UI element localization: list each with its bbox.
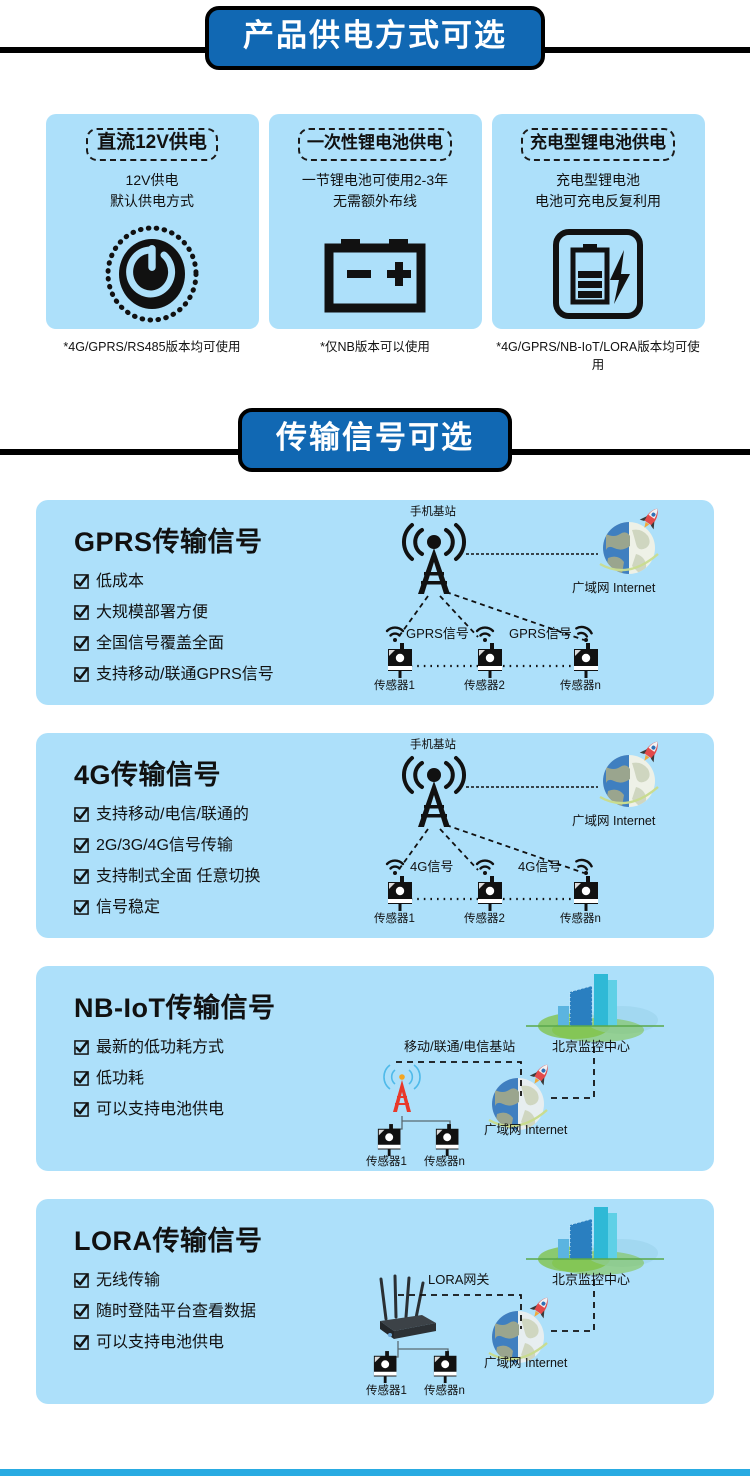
sensor-device-icon xyxy=(572,643,606,684)
signal-diagram-4g: 手机基站 xyxy=(366,733,714,938)
diagram-connectors xyxy=(366,966,696,1171)
rechargeable-battery-icon xyxy=(552,219,644,329)
power-card-description: 一节锂电池可使用2-3年 无需额外布线 xyxy=(302,170,448,212)
list-item-label: 支持移动/联通GPRS信号 xyxy=(96,666,274,684)
list-item-label: 可以支持电池供电 xyxy=(96,1101,224,1119)
power-card-desc-line2: 无需额外布线 xyxy=(302,191,448,212)
power-card-note: *4G/GPRS/RS485版本均可使用 xyxy=(47,338,257,356)
signal-section-banner: 传输信号可选 xyxy=(0,402,750,492)
list-item-label: 最新的低功耗方式 xyxy=(96,1039,224,1057)
sensor-device-icon xyxy=(572,876,606,917)
list-item: 2G/3G/4G信号传输 xyxy=(74,837,366,858)
list-item-label: 可以支持电池供电 xyxy=(96,1334,224,1352)
signal-block-4g: 4G传输信号 支持移动/电信/联通的 2G/3G/4G信号传输 支持制式全面 任… xyxy=(36,733,714,938)
check-icon xyxy=(74,1040,89,1060)
sensor-label: 传感器1 xyxy=(366,1385,407,1398)
sensor-label: 传感器2 xyxy=(464,680,505,693)
list-item: 全国信号覆盖全面 xyxy=(74,635,366,656)
signal-feature-list: 支持移动/电信/联通的 2G/3G/4G信号传输 支持制式全面 任意切换 信号稳… xyxy=(74,806,366,920)
list-item-label: 2G/3G/4G信号传输 xyxy=(96,837,233,855)
signal-type-label: 4G信号 xyxy=(410,860,453,874)
list-item: 大规模部署方便 xyxy=(74,604,366,625)
list-item-label: 支持移动/电信/联通的 xyxy=(96,806,249,824)
power-card-body: 直流12V供电 12V供电 默认供电方式 xyxy=(46,114,259,329)
signal-block-text: GPRS传输信号 低成本 大规模部署方便 全国信号覆盖全面 支持移动/联通GPR… xyxy=(36,500,366,715)
power-card-body: 一次性锂电池供电 一节锂电池可使用2-3年 无需额外布线 xyxy=(269,114,482,329)
sensor-label: 传感器1 xyxy=(374,913,415,926)
signal-block-text: NB-IoT传输信号 最新的低功耗方式 低功耗 可以支持电池供电 xyxy=(36,966,366,1150)
signal-diagram-lora: 北京监控中心 LORA网关 xyxy=(366,1199,714,1404)
signal-type-label: GPRS信号 xyxy=(406,627,469,641)
banner-box-power: 产品供电方式可选 xyxy=(205,6,545,70)
sensor-device-icon xyxy=(476,643,510,684)
check-icon xyxy=(74,838,89,858)
list-item: 最新的低功耗方式 xyxy=(74,1039,366,1060)
list-item-label: 大规模部署方便 xyxy=(96,604,208,622)
signal-type-label: 4G信号 xyxy=(518,860,561,874)
list-item-label: 低功耗 xyxy=(96,1070,144,1088)
sensor-label: 传感器1 xyxy=(374,680,415,693)
power-section-banner: 产品供电方式可选 xyxy=(0,0,750,90)
banner-title-power: 产品供电方式可选 xyxy=(243,17,507,56)
check-icon xyxy=(74,667,89,687)
sensor-label: 传感器n xyxy=(424,1156,465,1169)
sensor-label: 传感器n xyxy=(424,1385,465,1398)
signal-block-lora: LORA传输信号 无线传输 随时登陆平台查看数据 可以支持电池供电 xyxy=(36,1199,714,1404)
signal-feature-list: 无线传输 随时登陆平台查看数据 可以支持电池供电 xyxy=(74,1272,366,1355)
sensor-device-icon xyxy=(476,876,510,917)
bottom-accent-bar xyxy=(0,1469,750,1476)
list-item: 随时登陆平台查看数据 xyxy=(74,1303,366,1324)
list-item-label: 信号稳定 xyxy=(96,899,160,917)
banner-box-signal: 传输信号可选 xyxy=(238,408,512,472)
product-spec-page: 产品供电方式可选 直流12V供电 12V供电 默认供电方式 xyxy=(0,0,750,1476)
list-item: 低功耗 xyxy=(74,1070,366,1091)
sensor-label: 传感器n xyxy=(560,913,601,926)
power-card-primary-lithium: 一次性锂电池供电 一节锂电池可使用2-3年 无需额外布线 *仅 xyxy=(269,114,482,374)
sensor-device-icon xyxy=(386,643,420,684)
power-card-title: 直流12V供电 xyxy=(86,128,218,161)
signal-block-title: GPRS传输信号 xyxy=(74,520,366,559)
list-item: 信号稳定 xyxy=(74,899,366,920)
list-item-label: 全国信号覆盖全面 xyxy=(96,635,224,653)
power-card-description: 充电型锂电池 电池可充电反复利用 xyxy=(535,170,661,212)
signal-block-title: NB-IoT传输信号 xyxy=(74,986,366,1025)
check-icon xyxy=(74,574,89,594)
check-icon xyxy=(74,605,89,625)
check-icon xyxy=(74,1335,89,1355)
list-item-label: 随时登陆平台查看数据 xyxy=(96,1303,256,1321)
check-icon xyxy=(74,636,89,656)
sensor-label: 传感器2 xyxy=(464,913,505,926)
banner-title-signal: 传输信号可选 xyxy=(276,419,474,458)
signal-type-label: GPRS信号 xyxy=(509,627,572,641)
power-card-desc-line1: 一节锂电池可使用2-3年 xyxy=(302,170,448,191)
signal-block-text: LORA传输信号 无线传输 随时登陆平台查看数据 可以支持电池供电 xyxy=(36,1199,366,1383)
signal-block-title: LORA传输信号 xyxy=(74,1219,366,1258)
power-options-row: 直流12V供电 12V供电 默认供电方式 *4G/GPRS xyxy=(0,114,750,374)
sensor-device-icon xyxy=(386,876,420,917)
power-card-title: 一次性锂电池供电 xyxy=(298,128,452,161)
power-card-body: 充电型锂电池供电 充电型锂电池 电池可充电反复利用 xyxy=(492,114,705,329)
check-icon xyxy=(74,900,89,920)
power-card-description: 12V供电 默认供电方式 xyxy=(110,170,194,212)
list-item: 支持移动/联通GPRS信号 xyxy=(74,666,366,687)
signal-block-nbiot: NB-IoT传输信号 最新的低功耗方式 低功耗 可以支持电池供电 xyxy=(36,966,714,1171)
power-card-desc-line1: 充电型锂电池 xyxy=(535,170,661,191)
list-item-label: 低成本 xyxy=(96,573,144,591)
signal-feature-list: 低成本 大规模部署方便 全国信号覆盖全面 支持移动/联通GPRS信号 xyxy=(74,573,366,687)
power-card-rechargeable-lithium: 充电型锂电池供电 充电型锂电池 电池可充电反复利用 xyxy=(492,114,705,374)
list-item: 支持制式全面 任意切换 xyxy=(74,868,366,889)
signal-block-text: 4G传输信号 支持移动/电信/联通的 2G/3G/4G信号传输 支持制式全面 任… xyxy=(36,733,366,948)
signal-block-title: 4G传输信号 xyxy=(74,753,366,792)
power-card-desc-line2: 默认供电方式 xyxy=(110,191,194,212)
signal-diagram-gprs: 手机基站 xyxy=(366,500,714,705)
list-item: 低成本 xyxy=(74,573,366,594)
list-item: 可以支持电池供电 xyxy=(74,1101,366,1122)
sensor-label: 传感器n xyxy=(560,680,601,693)
check-icon xyxy=(74,807,89,827)
power-card-desc-line1: 12V供电 xyxy=(110,170,194,191)
power-button-icon xyxy=(102,219,202,329)
signal-feature-list: 最新的低功耗方式 低功耗 可以支持电池供电 xyxy=(74,1039,366,1122)
signal-diagram-nbiot: 北京监控中心 移动/联通/电信基站 xyxy=(366,966,714,1171)
check-icon xyxy=(74,1304,89,1324)
power-card-desc-line2: 电池可充电反复利用 xyxy=(535,191,661,212)
power-card-title: 充电型锂电池供电 xyxy=(521,128,675,161)
signal-block-gprs: GPRS传输信号 低成本 大规模部署方便 全国信号覆盖全面 支持移动/联通GPR… xyxy=(36,500,714,705)
sensor-label: 传感器1 xyxy=(366,1156,407,1169)
check-icon xyxy=(74,1071,89,1091)
diagram-connectors xyxy=(366,1199,696,1404)
check-icon xyxy=(74,1102,89,1122)
check-icon xyxy=(74,1273,89,1293)
list-item-label: 无线传输 xyxy=(96,1272,160,1290)
list-item: 无线传输 xyxy=(74,1272,366,1293)
check-icon xyxy=(74,869,89,889)
list-item: 支持移动/电信/联通的 xyxy=(74,806,366,827)
list-item-label: 支持制式全面 任意切换 xyxy=(96,868,260,886)
list-item: 可以支持电池供电 xyxy=(74,1334,366,1355)
power-card-note: *仅NB版本可以使用 xyxy=(270,338,480,356)
power-card-dc12v: 直流12V供电 12V供电 默认供电方式 *4G/GPRS xyxy=(46,114,259,374)
power-card-note: *4G/GPRS/NB-IoT/LORA版本均可使用 xyxy=(493,338,703,374)
car-battery-icon xyxy=(323,219,427,329)
